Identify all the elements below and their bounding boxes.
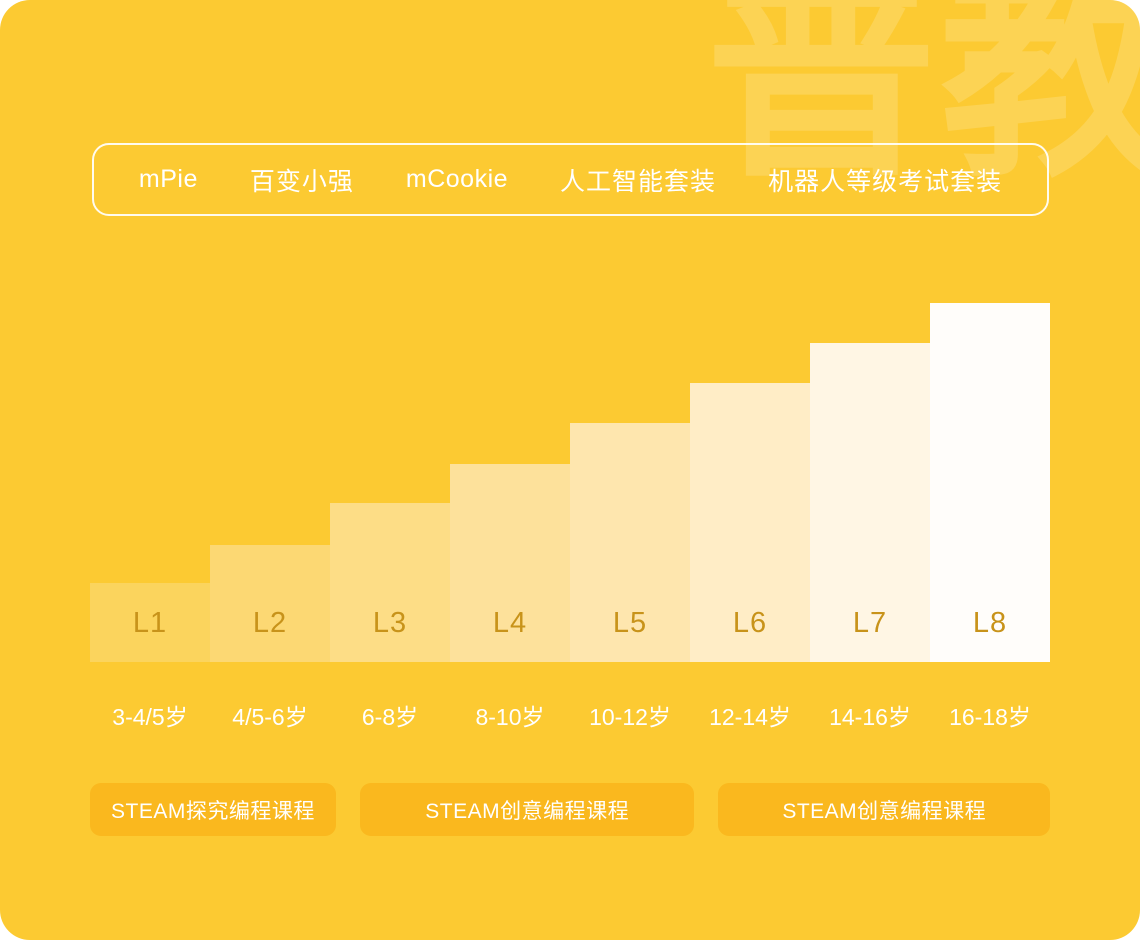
bar-label-l3: L3 [373, 607, 407, 662]
bar-label-l2: L2 [253, 607, 287, 662]
nav-item-2[interactable]: mCookie [406, 165, 508, 194]
level-bar-chart: L1L2L3L4L5L6L7L8 [90, 290, 1050, 662]
nav-item-1[interactable]: 百变小强 [250, 162, 354, 198]
course-button-row: STEAM探究编程课程STEAM创意编程课程STEAM创意编程课程 [90, 783, 1050, 836]
age-label-7: 16-18岁 [930, 698, 1050, 732]
age-label-2: 6-8岁 [330, 698, 450, 732]
age-label-3: 8-10岁 [450, 698, 570, 732]
nav-item-0[interactable]: mPie [139, 165, 198, 194]
bar-l3[interactable]: L3 [330, 503, 450, 662]
nav-item-4[interactable]: 机器人等级考试套装 [768, 162, 1002, 198]
product-nav-pill: mPie百变小强mCookie人工智能套装机器人等级考试套装 [92, 143, 1049, 216]
course-level-card: 普教 mPie百变小强mCookie人工智能套装机器人等级考试套装 L1L2L3… [0, 0, 1140, 940]
age-label-4: 10-12岁 [570, 698, 690, 732]
nav-item-3[interactable]: 人工智能套装 [560, 162, 716, 198]
bar-label-l7: L7 [853, 607, 887, 662]
bar-l1[interactable]: L1 [90, 583, 210, 662]
age-label-5: 12-14岁 [690, 698, 810, 732]
age-label-1: 4/5-6岁 [210, 698, 330, 732]
bar-l6[interactable]: L6 [690, 383, 810, 662]
bar-label-l6: L6 [733, 607, 767, 662]
course-button-0[interactable]: STEAM探究编程课程 [90, 783, 336, 836]
age-label-0: 3-4/5岁 [90, 698, 210, 732]
bar-l8[interactable]: L8 [930, 303, 1050, 662]
bar-l2[interactable]: L2 [210, 545, 330, 662]
bar-l7[interactable]: L7 [810, 343, 930, 662]
age-label-6: 14-16岁 [810, 698, 930, 732]
bar-label-l1: L1 [133, 607, 167, 662]
age-range-axis: 3-4/5岁4/5-6岁6-8岁8-10岁10-12岁12-14岁14-16岁1… [90, 698, 1050, 732]
bar-l5[interactable]: L5 [570, 423, 690, 662]
product-nav-list: mPie百变小强mCookie人工智能套装机器人等级考试套装 [111, 162, 1030, 198]
course-button-1[interactable]: STEAM创意编程课程 [360, 783, 695, 836]
bar-label-l4: L4 [493, 607, 527, 662]
bar-label-l8: L8 [973, 607, 1007, 662]
bar-l4[interactable]: L4 [450, 464, 570, 662]
bar-label-l5: L5 [613, 607, 647, 662]
course-button-2[interactable]: STEAM创意编程课程 [718, 783, 1050, 836]
